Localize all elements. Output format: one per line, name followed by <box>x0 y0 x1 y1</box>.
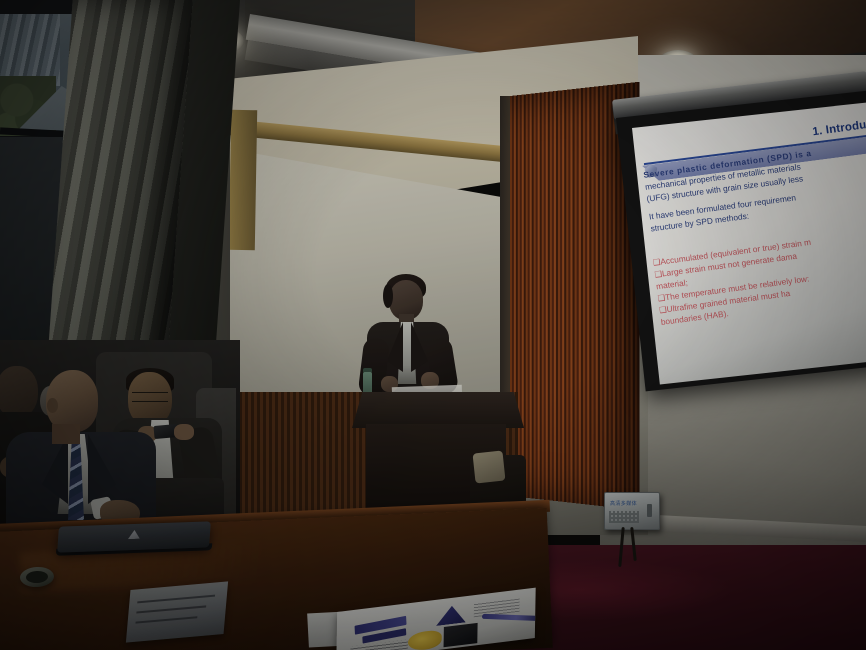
closed-laptop[interactable] <box>57 521 211 552</box>
brochure-triangle-graphic <box>432 604 466 626</box>
conference-room-photo: 1. Introduct Severe plastic deformation … <box>0 0 866 650</box>
wall-panel-label: 高清多媒体 <box>610 500 637 507</box>
wall-panel-slot[interactable] <box>647 504 652 517</box>
wall-control-panel[interactable]: 高清多媒体 <box>604 492 660 530</box>
paper-handout[interactable] <box>126 581 228 642</box>
presentation-slide: 1. Introduct Severe plastic deformation … <box>632 102 866 384</box>
partial-person-head <box>0 366 38 418</box>
brochure-text-block <box>350 640 408 650</box>
brochure-dark-photo <box>444 623 478 647</box>
projection-screen-surface: 1. Introduct Severe plastic deformation … <box>632 102 866 384</box>
presenter-hair-side <box>383 284 393 308</box>
laptop-logo-icon <box>128 530 141 539</box>
cup-opening <box>26 570 49 583</box>
bag-on-chair <box>473 451 506 484</box>
phone-person-hand-right <box>174 424 194 440</box>
podium-top <box>352 392 524 428</box>
pen-on-brochure[interactable] <box>482 614 536 621</box>
wall-panel-indicator-dots <box>609 511 639 523</box>
eyeglasses-icon <box>132 392 168 402</box>
brochure-yellow-graphic <box>408 629 442 650</box>
front-person-neck <box>52 424 80 444</box>
wall-trim-vertical <box>229 110 257 250</box>
front-person-ear <box>47 398 58 413</box>
slide-requirements-list: ❑Accumulated (equivalent or true) strain… <box>652 222 866 328</box>
